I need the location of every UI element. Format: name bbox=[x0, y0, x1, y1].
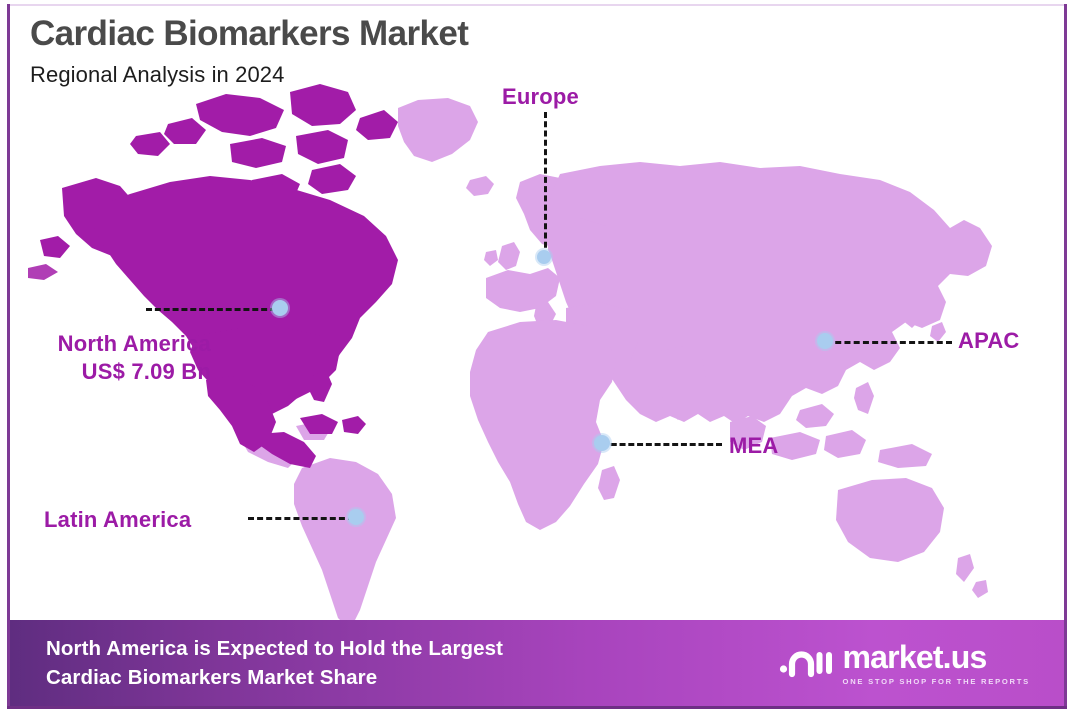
region-label-europe[interactable]: Europe bbox=[502, 83, 579, 111]
market-us-logo-icon bbox=[779, 642, 833, 684]
frame-top-border bbox=[7, 4, 1067, 6]
page-title: Cardiac Biomarkers Market bbox=[30, 16, 468, 53]
region-label-latin-america[interactable]: Latin America bbox=[44, 506, 191, 534]
region-label-north-america-name: North America bbox=[21, 330, 211, 358]
brand-logo[interactable]: market.us ONE STOP SHOP FOR THE REPORTS bbox=[779, 641, 1064, 686]
footer-headline-line1: North America is Expected to Hold the La… bbox=[46, 634, 503, 663]
footer-banner: North America is Expected to Hold the La… bbox=[10, 620, 1064, 706]
map-marker-apac[interactable] bbox=[817, 333, 833, 349]
region-label-latin-america-name: Latin America bbox=[44, 506, 191, 534]
map-marker-north-america[interactable] bbox=[272, 300, 288, 316]
region-label-europe-name: Europe bbox=[502, 83, 579, 111]
region-label-apac[interactable]: APAC bbox=[958, 327, 1020, 355]
footer-headline: North America is Expected to Hold the La… bbox=[10, 634, 503, 692]
region-label-apac-name: APAC bbox=[958, 327, 1020, 355]
region-label-north-america-value: US$ 7.09 Bn bbox=[21, 358, 211, 386]
brand-name: market.us bbox=[843, 641, 1030, 673]
connector-north-america bbox=[146, 308, 276, 311]
region-label-north-america[interactable]: North America US$ 7.09 Bn bbox=[21, 330, 211, 386]
map-marker-europe[interactable] bbox=[537, 250, 551, 264]
brand-logo-text: market.us ONE STOP SHOP FOR THE REPORTS bbox=[843, 641, 1030, 686]
frame-bottom-border bbox=[7, 706, 1067, 709]
connector-latin-america bbox=[248, 517, 354, 520]
connector-europe bbox=[544, 112, 547, 257]
region-label-mea[interactable]: MEA bbox=[729, 432, 779, 460]
page-subtitle: Regional Analysis in 2024 bbox=[30, 62, 468, 88]
map-marker-latin-america[interactable] bbox=[348, 509, 364, 525]
map-marker-mea[interactable] bbox=[594, 435, 610, 451]
header: Cardiac Biomarkers Market Regional Analy… bbox=[30, 16, 468, 88]
map-region-north-america bbox=[28, 84, 398, 468]
connector-apac bbox=[826, 341, 952, 344]
brand-tagline: ONE STOP SHOP FOR THE REPORTS bbox=[843, 677, 1030, 686]
footer-headline-line2: Cardiac Biomarkers Market Share bbox=[46, 663, 503, 692]
infographic-root: Cardiac Biomarkers Market Regional Analy… bbox=[0, 0, 1074, 713]
region-label-mea-name: MEA bbox=[729, 432, 779, 460]
connector-mea bbox=[602, 443, 722, 446]
